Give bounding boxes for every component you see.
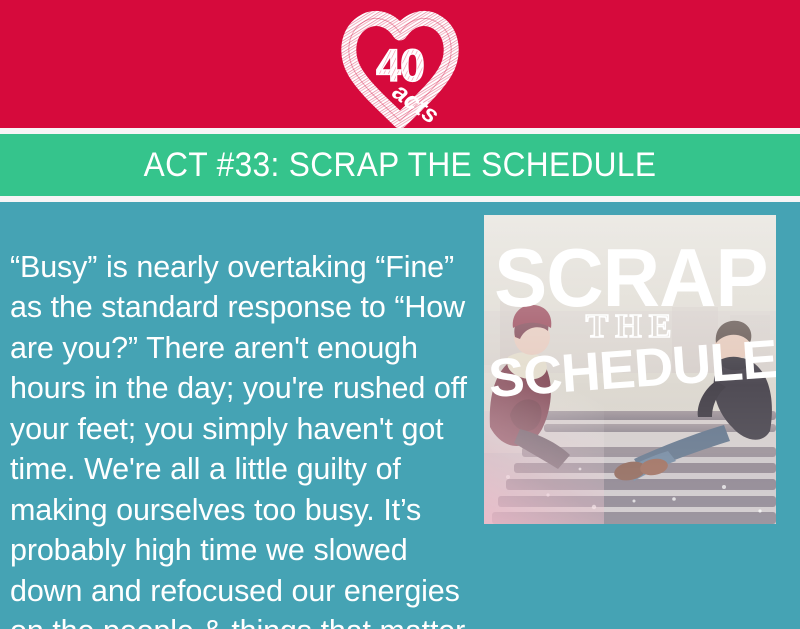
- act-title: ACT #33: SCRAP THE SCHEDULE: [28, 134, 772, 196]
- act-photo: SCRAP THE SCHEDULE: [484, 215, 776, 524]
- scrap-the-schedule-photo: SCRAP THE SCHEDULE: [484, 215, 776, 524]
- title-band: ACT #33: SCRAP THE SCHEDULE: [0, 134, 800, 196]
- act-description: “Busy” is nearly overtaking “Fine” as th…: [10, 247, 480, 629]
- heart-sketch-logo-icon: 40 acts: [341, 6, 459, 128]
- header-band: 40 acts: [0, 0, 800, 128]
- act-poster: 40 acts ACT #33: SCRAP THE SCHEDULE “Bus…: [0, 0, 800, 629]
- forty-acts-logo: 40 acts: [341, 6, 459, 128]
